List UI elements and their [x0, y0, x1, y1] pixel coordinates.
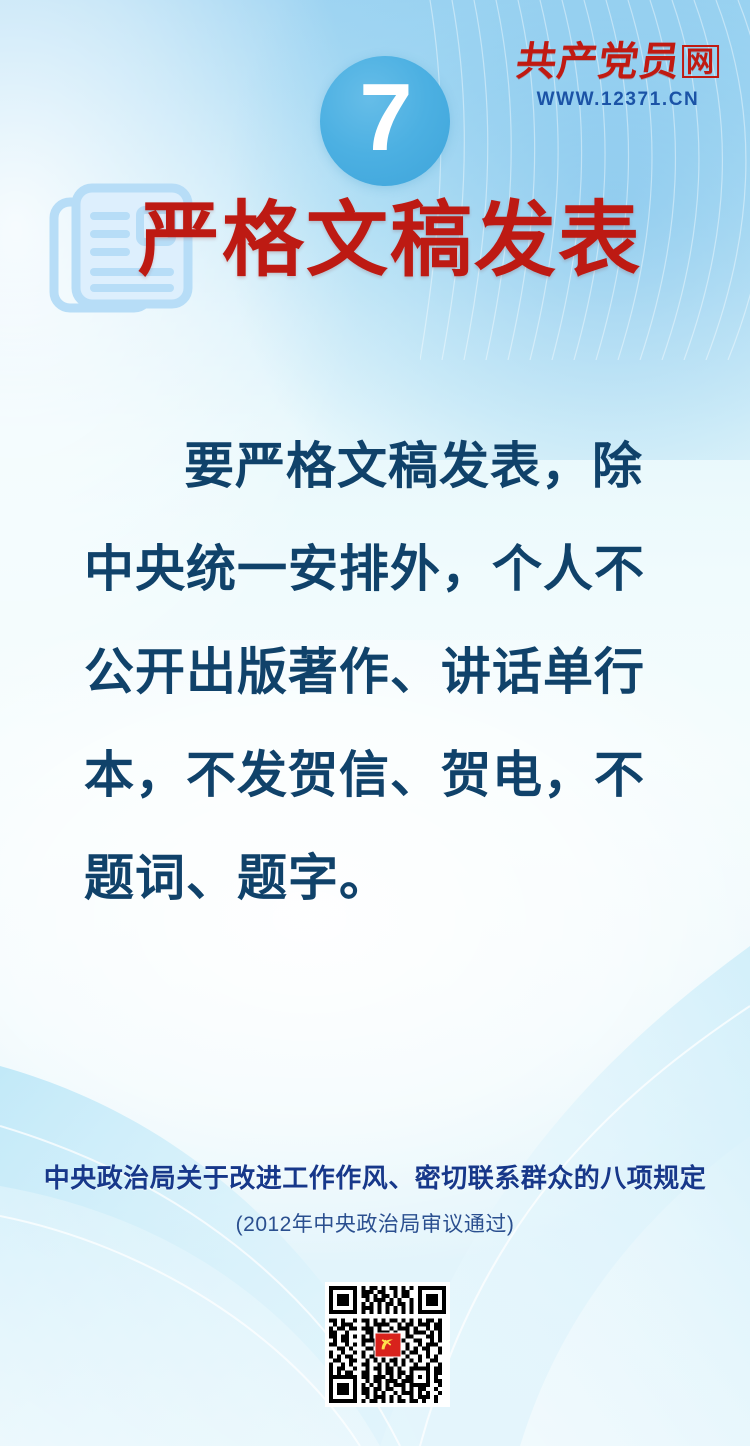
site-brand-logo[interactable]: 共产党员网 WWW.12371.CN	[510, 42, 726, 111]
body-line: 本，不发贺信、贺电，不	[84, 724, 674, 827]
regulation-title: 中央政治局关于改进工作作风、密切联系群众的八项规定	[0, 1158, 750, 1195]
body-line: 题词、题字。	[84, 827, 674, 930]
brand-name-text: 共产党员	[513, 38, 684, 85]
regulation-note: (2012年中央政治局审议通过)	[0, 1208, 750, 1238]
number-badge-7: 7	[320, 56, 450, 186]
qr-code[interactable]	[325, 1282, 450, 1407]
brand-website-url: WWW.12371.CN	[510, 89, 726, 111]
hammer-sickle-icon	[379, 1338, 396, 1352]
page-title: 严格文稿发表	[138, 200, 738, 282]
brand-net-box: 网	[683, 45, 720, 78]
body-line: 中央统一安排外，个人不	[84, 518, 674, 621]
hammer-and-sickle-emblem	[374, 1332, 401, 1357]
body-text: 要严格文稿发表，除 中央统一安排外，个人不 公开出版著作、讲话单行 本，不发贺信…	[84, 415, 674, 930]
number-badge-label: 7	[359, 70, 410, 166]
brand-name-calligraphy: 共产党员网	[507, 42, 729, 82]
body-line: 公开出版著作、讲话单行	[84, 621, 674, 724]
body-line: 要严格文稿发表，除	[84, 415, 674, 518]
